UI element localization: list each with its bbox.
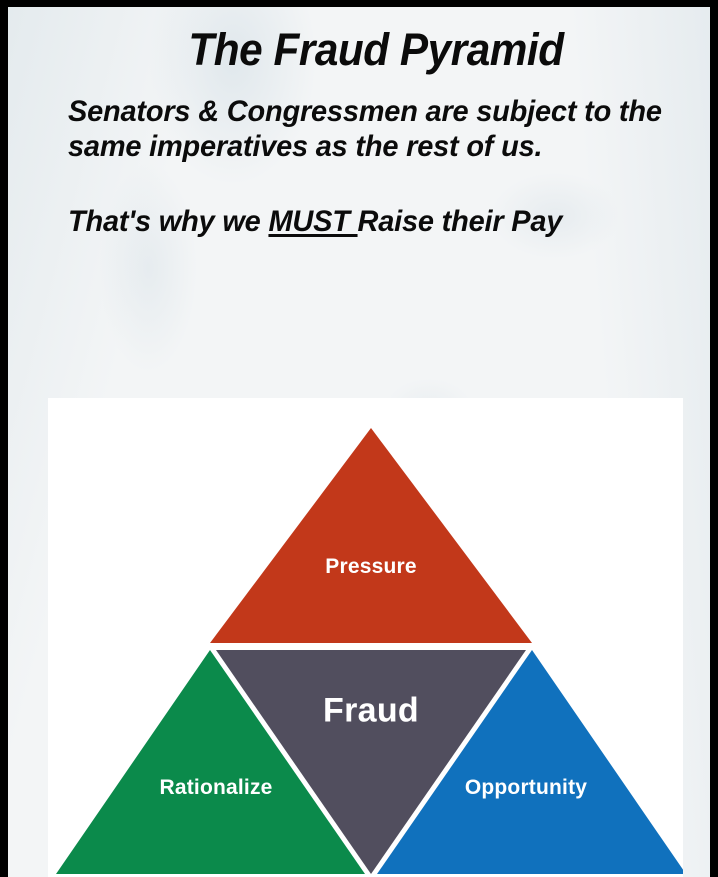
body-paragraph-1: Senators & Congressmen are subject to th… — [68, 94, 662, 164]
pyramid-segment-pressure — [210, 428, 532, 643]
must-emphasis-text: MUST — [268, 205, 357, 238]
text-block: The Fraud Pyramid Senators & Congressmen… — [68, 27, 684, 239]
body-paragraph-2: That's why we MUST Raise their Pay — [68, 204, 662, 239]
fraud-triangle-diagram — [48, 398, 683, 877]
paragraph-2-lead-text: That's why we — [68, 205, 268, 238]
page-title: The Fraud Pyramid — [86, 27, 665, 72]
poster-image: The Fraud Pyramid Senators & Congressmen… — [0, 0, 718, 877]
paragraph-2-trailing-text: Raise their Pay — [358, 205, 563, 238]
fraud-triangle-panel: Pressure Fraud Rationalize Opportunity — [48, 398, 683, 877]
paper-background: The Fraud Pyramid Senators & Congressmen… — [8, 7, 710, 877]
